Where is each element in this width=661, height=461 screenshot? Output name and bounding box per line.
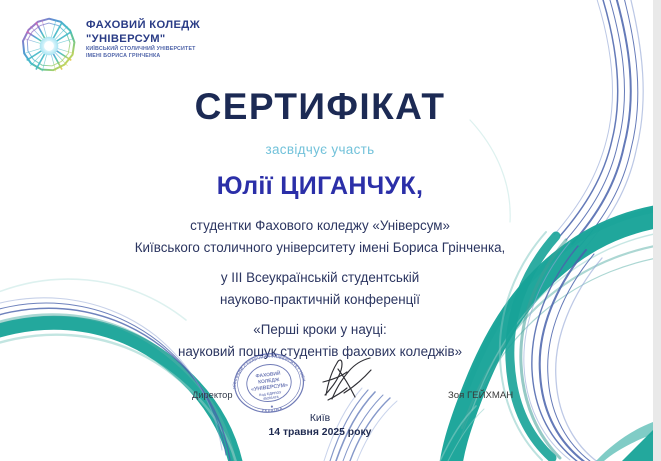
issue-date: 14 травня 2025 року: [0, 426, 640, 440]
logo-subline-1: КИЇВСЬКИЙ СТОЛИЧНИЙ УНІВЕРСИТЕТ: [86, 46, 276, 53]
body-line: у III Всеукраїнській студентській: [0, 267, 640, 289]
issue-place-and-date: Київ 14 травня 2025 року: [0, 412, 640, 440]
signatory-name-label: Зоя ГЕЙХМАН: [448, 390, 513, 401]
official-round-seal-icon: КИЇВСЬКИЙ СТОЛИЧНИЙ УНІВЕРСИТЕТ ІМЕНІ УК…: [223, 352, 315, 414]
signature-role-label: Директор: [192, 390, 233, 400]
certificate-body: студентки Фахового коледжу «Універсум» К…: [0, 215, 640, 363]
certificate-page: ФАХОВИЙ КОЛЕДЖ "УНІВЕРСУМ" КИЇВСЬКИЙ СТО…: [0, 0, 653, 461]
issue-place: Київ: [0, 412, 640, 426]
handwritten-signature-icon: [318, 355, 388, 403]
logo-wordmark: ФАХОВИЙ КОЛЕДЖ "УНІВЕРСУМ" КИЇВСЬКИЙ СТО…: [86, 19, 276, 60]
institution-logo: ФАХОВИЙ КОЛЕДЖ "УНІВЕРСУМ" КИЇВСЬКИЙ СТО…: [18, 11, 278, 81]
logo-line-2: "УНІВЕРСУМ": [86, 32, 276, 46]
recipient-name: Юлії ЦИГАНЧУК,: [0, 172, 640, 201]
body-line: студентки Фахового коледжу «Універсум»: [0, 215, 640, 237]
logo-line-1: ФАХОВИЙ КОЛЕДЖ: [86, 19, 276, 32]
page-title: СЕРТИФІКАТ: [0, 86, 640, 128]
certificate-subtitle: засвідчує участь: [0, 142, 640, 157]
body-line: «Перші кроки у науці:: [0, 319, 640, 341]
starburst-mandala-icon: [18, 15, 80, 77]
logo-subline-2: ІМЕНІ БОРИСА ГРІНЧЕНКА: [86, 53, 276, 60]
body-line: науково-практичній конференції: [0, 289, 640, 311]
page-edge-gutter: [653, 0, 661, 461]
body-line: Київського столичного університету імені…: [0, 237, 640, 259]
